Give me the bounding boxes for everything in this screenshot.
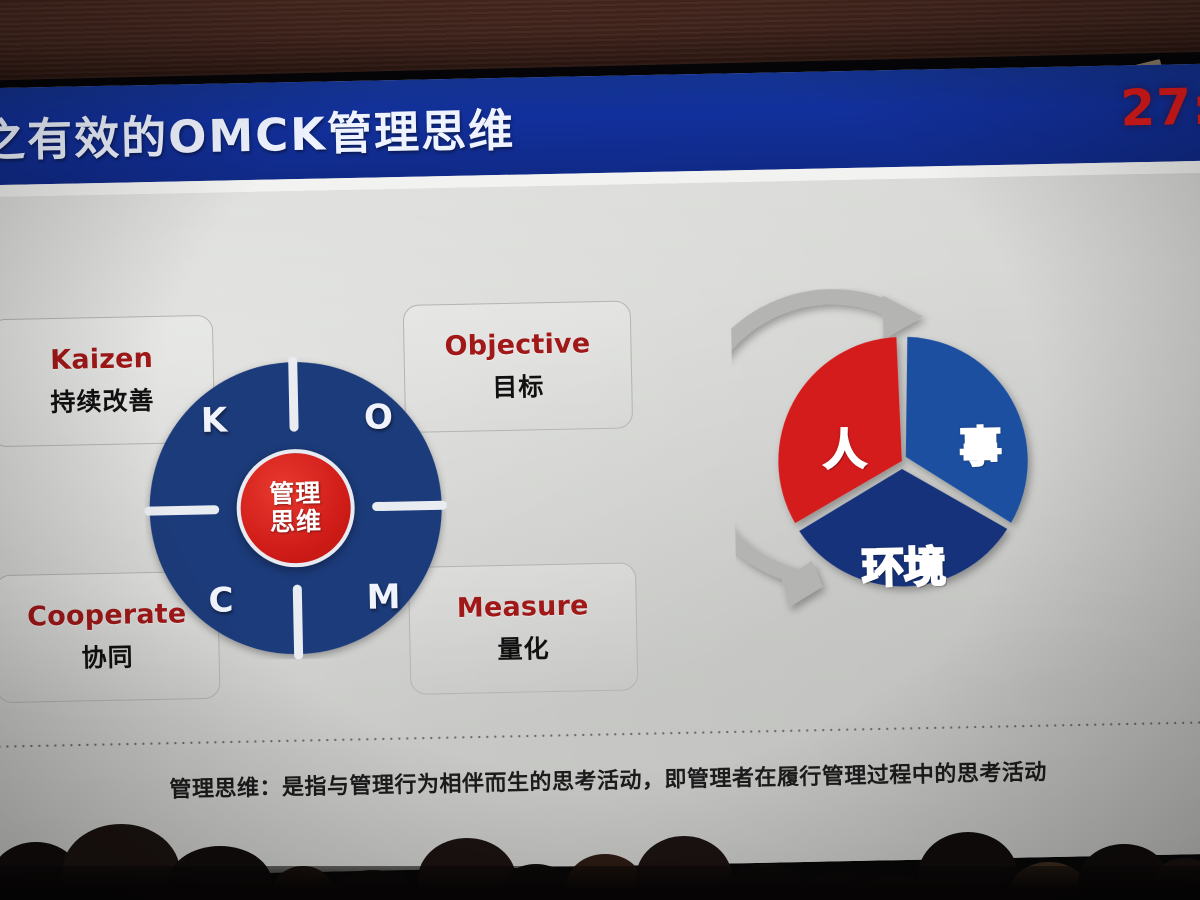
hub-line-1: 管理 [269, 480, 322, 509]
label-en-kaizen: Kaizen [50, 343, 153, 376]
slide-body: Kaizen 持续改善 Objective 目标 Cooperate 协同 Me… [0, 172, 1200, 878]
hub-line-2: 思维 [270, 508, 323, 537]
dotted-divider [0, 720, 1200, 749]
label-en-measure: Measure [457, 590, 589, 624]
donut-letter-c: C [208, 580, 234, 620]
donut-letter-m: M [366, 577, 401, 618]
donut-letter-o: O [364, 397, 394, 438]
definition-caption: 管理思维：是指与管理行为相伴而生的思考活动，即管理者在履行管理过程中的思考活动 [0, 750, 1200, 808]
audience-head [500, 864, 572, 900]
audience-head [330, 870, 416, 900]
conference-room-photo: 行之有效的OMCK管理思维 27:4 Kaizen 持续改善 Objective… [0, 0, 1200, 900]
projection-screen: 行之有效的OMCK管理思维 27:4 Kaizen 持续改善 Objective… [0, 63, 1200, 878]
wheel-label-huanjing: 环境 [861, 533, 946, 596]
footnote-area: C管理思维的支出预算编制——以河南省肿瘤医院为例[J].会计之友,2018,(1… [0, 890, 1200, 900]
label-cn-cooperate: 协同 [81, 637, 134, 674]
label-cn-measure: 量化 [497, 629, 550, 666]
audience-head [800, 872, 874, 900]
countdown-timer: 27:4 [1120, 77, 1200, 138]
omck-donut-diagram: K O C M 管理 思维 [142, 354, 450, 662]
label-cn-kaizen: 持续改善 [50, 381, 155, 419]
ren-shi-huanjing-wheel: 人 事 环境 [730, 284, 1073, 647]
wheel-label-ren: 人 [823, 416, 866, 478]
audience-head [724, 864, 808, 900]
label-cn-objective: 目标 [492, 367, 545, 404]
label-en-objective: Objective [444, 328, 590, 362]
slide-title: 行之有效的OMCK管理思维 [0, 94, 516, 171]
wheel-label-shi: 事 [959, 413, 1002, 475]
donut-letter-k: K [201, 401, 228, 442]
